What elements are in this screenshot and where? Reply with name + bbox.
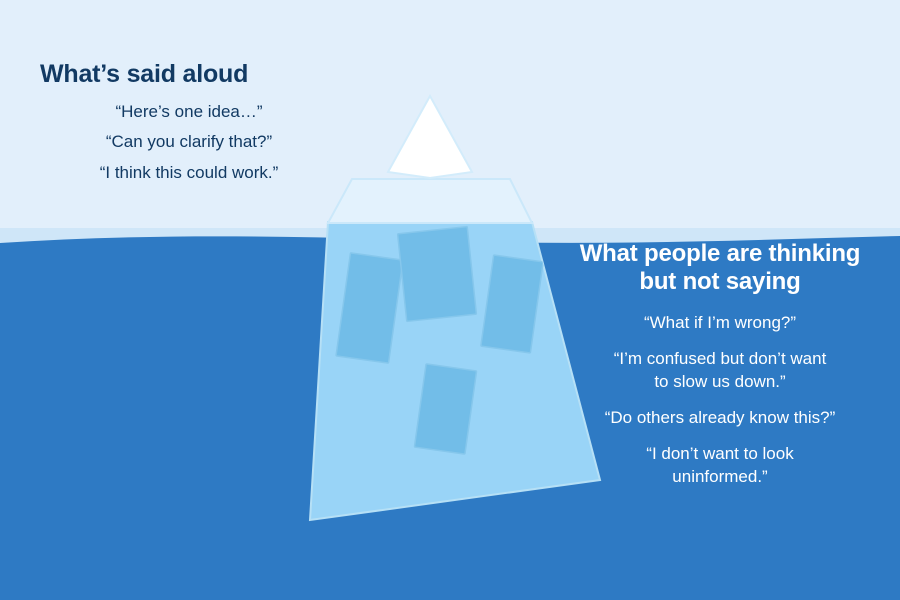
above-water-quote-1: “Here’s one idea…”: [24, 101, 354, 123]
below-water-quote-4-line-1: “I don’t want to look: [646, 444, 793, 463]
iceberg-above-water-shelf: [328, 179, 532, 223]
below-water-headline-line-2: but not saying: [639, 268, 800, 295]
below-water-text-block: What people are thinking but not saying …: [548, 240, 892, 488]
below-water-quote-4-line-2: uninformed.”: [672, 467, 767, 486]
below-water-quote-2-line-2: to slow us down.”: [654, 372, 785, 391]
below-water-quote-2-line-1: “I’m confused but don’t want: [614, 349, 827, 368]
above-water-text-block: What’s said aloud “Here’s one idea…” “Ca…: [24, 60, 354, 184]
iceberg-diagram: What’s said aloud “Here’s one idea…” “Ca…: [0, 0, 900, 600]
below-water-quote-4: “I don’t want to look uninformed.”: [548, 443, 892, 488]
above-water-quote-3: “I think this could work.”: [24, 162, 354, 184]
below-water-headline: What people are thinking but not saying: [548, 240, 892, 296]
iceberg-facet-top-middle: [398, 227, 477, 322]
above-water-headline: What’s said aloud: [24, 60, 354, 89]
iceberg-facet-bottom-middle: [414, 364, 476, 454]
below-water-quote-2: “I’m confused but don’t want to slow us …: [548, 348, 892, 393]
above-water-quote-2: “Can you clarify that?”: [24, 131, 354, 153]
below-water-quote-3: “Do others already know this?”: [548, 407, 892, 429]
below-water-headline-line-1: What people are thinking: [580, 240, 861, 267]
below-water-quote-1: “What if I’m wrong?”: [548, 312, 892, 334]
